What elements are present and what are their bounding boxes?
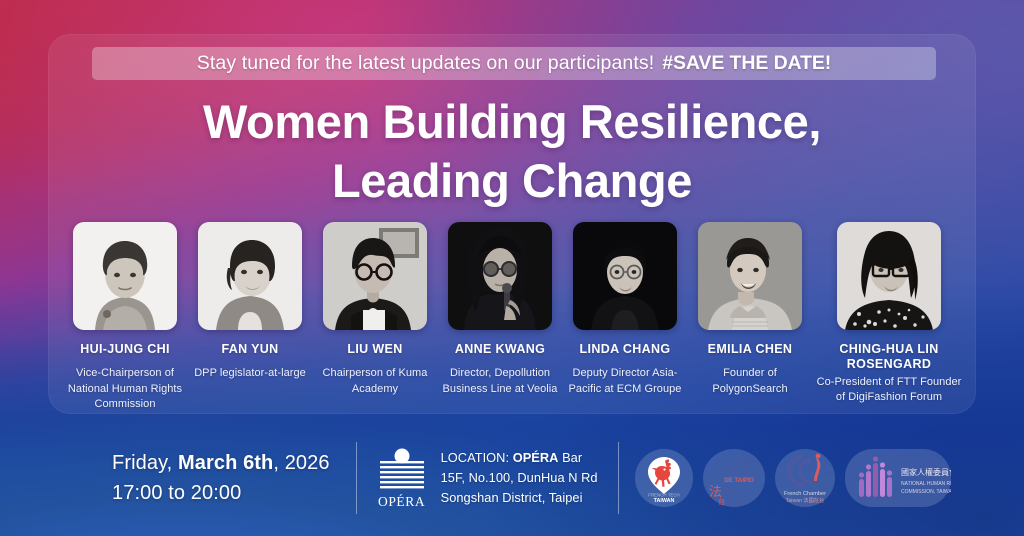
logo-disc	[703, 449, 765, 507]
title-line-2: Leading Change	[0, 152, 1024, 211]
speaker-name: CHING-HUA LIN ROSENGARD	[814, 342, 964, 373]
portrait-fan-yun	[198, 222, 302, 330]
opera-logo: OPÉRA	[375, 446, 429, 510]
portrait-ching-hua-lin-rosengard	[837, 222, 941, 330]
event-time: 17:00 to 20:00	[112, 478, 330, 508]
speaker-list: HUI-JUNG CHI Vice-Chairperson of Nationa…	[64, 222, 964, 413]
event-date-line: Friday, March 6th, 2026	[112, 448, 330, 478]
footer-divider-1	[356, 442, 357, 514]
footer-divider-2	[618, 442, 619, 514]
venue-location-label: LOCATION:	[441, 450, 509, 465]
logo-disc	[635, 449, 693, 507]
portrait-liu-wen	[323, 222, 427, 330]
speaker-card: HUI-JUNG CHI Vice-Chairperson of Nationa…	[64, 222, 186, 413]
venue-name-suffix: Bar	[562, 450, 582, 465]
venue-address: LOCATION: OPÉRA Bar 15F, No.100, DunHua …	[441, 448, 598, 507]
poster-title: Women Building Resilience, Leading Chang…	[0, 93, 1024, 211]
announcement-banner: Stay tuned for the latest updates on our…	[92, 47, 936, 80]
logo-national-human-rights-commission-taiwan: 國家人權委員會 NATIONAL HUMAN RIGHTS COMMISSION…	[845, 449, 951, 507]
speaker-name: HUI-JUNG CHI	[64, 342, 186, 357]
portrait-anne-kwang	[448, 222, 552, 330]
speaker-role: Founder of PolygonSearch	[689, 366, 811, 397]
speaker-card: EMILIA CHEN Founder of PolygonSearch	[689, 222, 811, 397]
speaker-role: DPP legislator-at-large	[189, 366, 311, 382]
speaker-role: Director, Depollution Business Line at V…	[439, 366, 561, 397]
speaker-role: Co-President of FTT Founder of DigiFashi…	[814, 375, 964, 406]
speaker-card: FAN YUN DPP legislator-at-large	[189, 222, 311, 382]
logo-la-french-tech-taiwan: LA FRENCH TECH TAIWAN	[635, 449, 693, 507]
banner-text: Stay tuned for the latest updates on our…	[197, 52, 654, 75]
logo-disc	[845, 449, 951, 507]
speaker-role: Chairperson of Kuma Academy	[314, 366, 436, 397]
opera-stripes-icon	[379, 448, 425, 492]
venue-block: OPÉRA LOCATION: OPÉRA Bar 15F, No.100, D…	[375, 446, 598, 510]
speaker-role: Vice-Chairperson of National Human Right…	[64, 366, 186, 413]
logo-cci-french-chamber-taiwan: French Chamber Taiwan 法國在台	[775, 449, 835, 507]
venue-name: OPÉRA	[513, 450, 559, 465]
partner-logos: LA FRENCH TECH TAIWAN BUREAU FRANÇAIS DE…	[635, 449, 951, 507]
date-strong: March 6th	[178, 452, 273, 474]
speaker-card: CHING-HUA LIN ROSENGARD Co-President of …	[814, 222, 964, 406]
speaker-name: FAN YUN	[189, 342, 311, 357]
speaker-name: EMILIA CHEN	[689, 342, 811, 357]
venue-line-2: 15F, No.100, DunHua N Rd	[441, 468, 598, 488]
title-line-1: Women Building Resilience,	[0, 93, 1024, 152]
speaker-card: LINDA CHANG Deputy Director Asia-Pacific…	[564, 222, 686, 397]
poster-footer: Friday, March 6th, 2026 17:00 to 20:00	[0, 428, 1024, 528]
logo-bureau-francais-de-taipei: BUREAU FRANÇAIS DE TAIPEI 法 國 在 台 協 會	[703, 449, 765, 507]
date-suffix: , 2026	[273, 452, 329, 474]
banner-hashtag: #SAVE THE DATE!	[662, 52, 831, 75]
speaker-role: Deputy Director Asia-Pacific at ECM Grou…	[564, 366, 686, 397]
speaker-name: LIU WEN	[314, 342, 436, 357]
opera-wordmark: OPÉRA	[375, 494, 429, 510]
date-prefix: Friday,	[112, 452, 172, 474]
logo-disc	[775, 449, 835, 507]
portrait-hui-jung-chi	[73, 222, 177, 330]
speaker-name: ANNE KWANG	[439, 342, 561, 357]
portrait-emilia-chen	[698, 222, 802, 330]
event-poster: Stay tuned for the latest updates on our…	[0, 0, 1024, 536]
speaker-card: LIU WEN Chairperson of Kuma Academy	[314, 222, 436, 397]
speaker-card: ANNE KWANG Director, Depollution Busines…	[439, 222, 561, 397]
venue-line-1: LOCATION: OPÉRA Bar	[441, 448, 598, 468]
event-datetime: Friday, March 6th, 2026 17:00 to 20:00	[112, 448, 330, 508]
venue-line-3: Songshan District, Taipei	[441, 488, 598, 508]
portrait-linda-chang	[573, 222, 677, 330]
speaker-name: LINDA CHANG	[564, 342, 686, 357]
